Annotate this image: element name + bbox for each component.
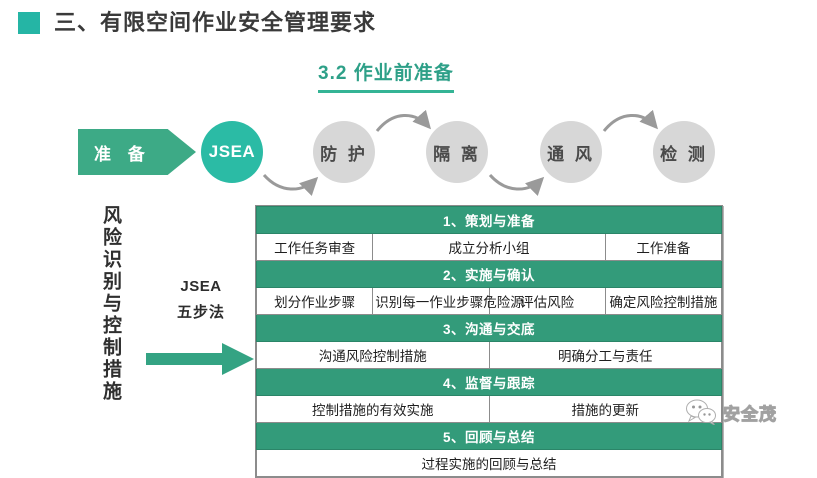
table-cell: 工作准备 <box>605 234 721 261</box>
table-cell: 划分作业步骤 <box>257 288 373 315</box>
jsea-label-line2: 五步法 <box>146 301 256 322</box>
section-heading-cell: 4、监督与跟踪 <box>257 369 722 396</box>
table-row: 过程实施的回顾与总结 <box>257 450 722 477</box>
watermark: 安全茂 <box>684 399 777 425</box>
table-cell: 识别每一作业步骤危险源 <box>373 288 489 315</box>
wechat-icon <box>684 399 718 425</box>
section-heading-cell: 2、实施与确认 <box>257 261 722 288</box>
jsea-five-step-block: JSEA 五步法 <box>146 278 256 322</box>
vertical-axis-label: 风险识别与控制措施 <box>86 205 120 403</box>
section-heading-cell: 3、沟通与交底 <box>257 315 722 342</box>
table-cell: 工作任务审查 <box>257 234 373 261</box>
table-cell: 明确分工与责任 <box>489 342 722 369</box>
table-row: 沟通风险控制措施 明确分工与责任 <box>257 342 722 369</box>
flow-node-detection: 检 测 <box>653 121 715 183</box>
flow-node-label: 检 测 <box>660 140 708 165</box>
table-section-heading: 2、实施与确认 <box>257 261 722 288</box>
table-cell: 确定风险控制措施 <box>605 288 721 315</box>
table-cell: 沟通风险控制措施 <box>257 342 490 369</box>
flow-node-label: JSEA <box>209 142 255 162</box>
process-flow: 准 备 JSEA 防 护 隔 离 通 风 检 测 <box>0 105 817 200</box>
table-section-heading: 5、回顾与总结 <box>257 423 722 450</box>
table-cell: 过程实施的回顾与总结 <box>257 450 722 477</box>
table-row: 划分作业步骤 识别每一作业步骤危险源 评估风险 确定风险控制措施 <box>257 288 722 315</box>
flow-node-isolation: 隔 离 <box>426 121 488 183</box>
slide-canvas: 三、有限空间作业安全管理要求 3.2 作业前准备 准 备 JSEA 防 护 隔 … <box>0 0 817 452</box>
jsea-label-line1: JSEA <box>146 278 256 295</box>
section-subtitle-text: 3.2 作业前准备 <box>318 58 454 90</box>
flow-node-label: 通 风 <box>547 140 595 165</box>
flow-banner-prepare: 准 备 <box>78 129 196 175</box>
section-heading-cell: 5、回顾与总结 <box>257 423 722 450</box>
table-section-heading: 3、沟通与交底 <box>257 315 722 342</box>
section-subtitle: 3.2 作业前准备 <box>318 58 454 93</box>
right-arrow-icon <box>146 341 256 377</box>
flow-node-ventilation: 通 风 <box>540 121 602 183</box>
flow-node-protection: 防 护 <box>313 121 375 183</box>
watermark-text: 安全茂 <box>723 400 777 425</box>
section-heading-cell: 1、策划与准备 <box>257 207 722 234</box>
table-cell: 成立分析小组 <box>373 234 606 261</box>
table-row: 控制措施的有效实施 措施的更新 <box>257 396 722 423</box>
page-title: 三、有限空间作业安全管理要求 <box>54 12 376 34</box>
table-section-heading: 4、监督与跟踪 <box>257 369 722 396</box>
table-cell: 控制措施的有效实施 <box>257 396 490 423</box>
square-bullet-icon <box>18 12 40 34</box>
page-header: 三、有限空间作业安全管理要求 <box>18 12 376 34</box>
flow-node-label: 隔 离 <box>433 140 481 165</box>
flow-node-jsea: JSEA <box>201 121 263 183</box>
subtitle-underline <box>318 90 454 93</box>
table-section-heading: 1、策划与准备 <box>257 207 722 234</box>
jsea-steps-table: 1、策划与准备 工作任务审查 成立分析小组 工作准备 2、实施与确认 划分作业步… <box>255 205 723 478</box>
flow-banner-label: 准 备 <box>78 140 151 165</box>
table-row: 工作任务审查 成立分析小组 工作准备 <box>257 234 722 261</box>
flow-node-label: 防 护 <box>320 140 368 165</box>
